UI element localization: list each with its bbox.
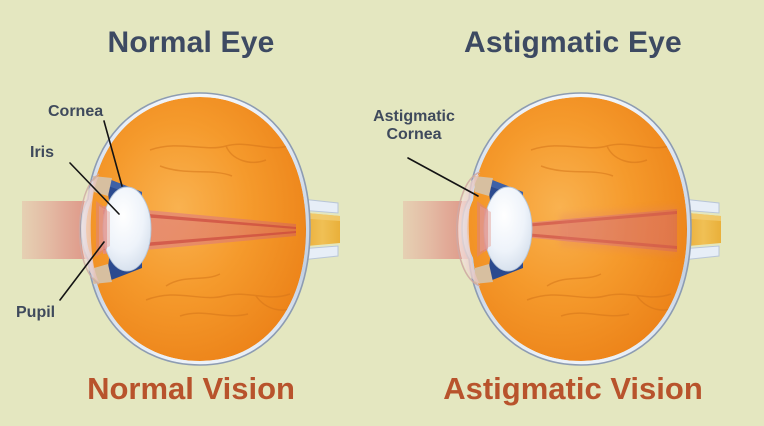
eye-diagram-figure: Normal Eye Astigmatic Eye Cornea Iris Pu… bbox=[0, 0, 764, 426]
label-pupil: Pupil bbox=[16, 304, 55, 322]
label-iris: Iris bbox=[30, 144, 54, 162]
panel-title-normal-eye: Normal Eye bbox=[0, 26, 382, 60]
panel-title-astigmatic-eye: Astigmatic Eye bbox=[382, 26, 764, 60]
beam-through-cornea bbox=[96, 201, 107, 257]
caption-normal-vision: Normal Vision bbox=[0, 371, 382, 407]
lens-astigmatic bbox=[484, 187, 532, 271]
caption-astigmatic-vision: Astigmatic Vision bbox=[382, 371, 764, 407]
lens bbox=[103, 187, 151, 271]
label-astigmatic-cornea: Astigmatic Cornea bbox=[356, 108, 472, 144]
eye-diagram-illustration bbox=[0, 0, 764, 426]
beam-through-astigmatic-cornea bbox=[477, 201, 488, 257]
label-cornea: Cornea bbox=[48, 103, 103, 121]
